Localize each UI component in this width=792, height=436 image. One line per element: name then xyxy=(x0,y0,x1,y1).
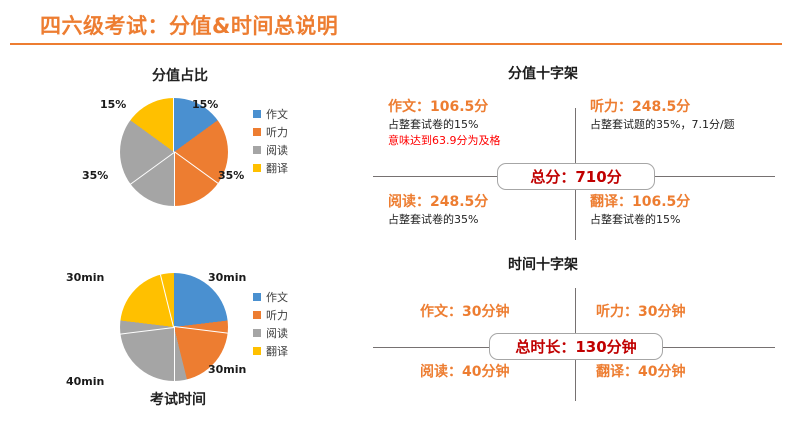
pie-separator xyxy=(174,327,175,381)
pie-separator xyxy=(174,326,228,334)
legend-item-fanyi: 翻译 xyxy=(253,342,288,360)
legend-swatch-gray-icon xyxy=(253,146,261,154)
time-pie-label-tingli: 30min xyxy=(208,363,246,376)
legend-label: 阅读 xyxy=(266,325,288,341)
legend-label: 翻译 xyxy=(266,343,288,359)
quadrant-detail: 占整套试卷的35% xyxy=(388,212,488,228)
score-pie-label-zuowen: 15% xyxy=(192,98,218,111)
pie-separator xyxy=(174,152,175,206)
time-pie-label-zuowen: 30min xyxy=(208,271,246,284)
quadrant-heading: 听力：30分钟 xyxy=(596,302,685,322)
legend-label: 翻译 xyxy=(266,160,288,176)
quadrant-heading: 作文：30分钟 xyxy=(420,302,509,322)
quadrant-detail: 占整套试卷的15% xyxy=(590,212,690,228)
total-time-badge: 总时长：130分钟 xyxy=(489,333,663,360)
time-pie-title: 考试时间 xyxy=(128,389,228,409)
time-quadrant-listening: 听力：30分钟 xyxy=(596,302,685,322)
time-cross-title: 时间十字架 xyxy=(508,254,578,274)
quadrant-detail-alert: 意味达到63.9分为及格 xyxy=(388,133,501,149)
score-quadrant-listening: 听力：248.5分 占整套试题的35%，7.1分/题 xyxy=(590,97,735,133)
score-quadrant-translation: 翻译：106.5分 占整套试卷的15% xyxy=(590,192,690,228)
legend-item-tingli: 听力 xyxy=(253,123,288,141)
legend-item-zuowen: 作文 xyxy=(253,105,288,123)
score-pie-legend: 作文 听力 阅读 翻译 xyxy=(253,105,288,177)
pie-separator xyxy=(160,275,174,328)
legend-swatch-blue-icon xyxy=(253,110,261,118)
score-pie-chart: 分值占比 15% 35% 35% 15% 作文 听力 阅读 翻译 xyxy=(70,60,320,240)
legend-item-tingli: 听力 xyxy=(253,306,288,324)
quadrant-heading: 翻译：106.5分 xyxy=(590,192,690,212)
legend-item-zuowen: 作文 xyxy=(253,288,288,306)
quadrant-heading: 听力：248.5分 xyxy=(590,97,735,117)
legend-label: 作文 xyxy=(266,106,288,122)
score-pie-title: 分值占比 xyxy=(130,65,230,85)
score-pie-graphic xyxy=(120,98,228,206)
legend-swatch-gray-icon xyxy=(253,329,261,337)
time-pie-legend: 作文 听力 阅读 翻译 xyxy=(253,288,288,360)
total-score-badge: 总分：710分 xyxy=(497,163,655,190)
legend-swatch-yellow-icon xyxy=(253,347,261,355)
legend-label: 听力 xyxy=(266,307,288,323)
pie-separator xyxy=(130,152,174,185)
legend-swatch-orange-icon xyxy=(253,128,261,136)
quadrant-heading: 作文：106.5分 xyxy=(388,97,501,117)
quadrant-heading: 翻译：40分钟 xyxy=(596,362,685,382)
header-divider xyxy=(10,43,782,45)
legend-item-yuedu: 阅读 xyxy=(253,324,288,342)
score-cross-title: 分值十字架 xyxy=(508,63,578,83)
time-pie-chart: 30min 30min 40min 30min 考试时间 作文 听力 阅读 翻译 xyxy=(70,255,320,430)
quadrant-detail: 占整套试卷的15% xyxy=(388,117,501,133)
quadrant-detail: 占整套试题的35%，7.1分/题 xyxy=(590,117,735,133)
legend-swatch-orange-icon xyxy=(253,311,261,319)
quadrant-heading: 阅读：248.5分 xyxy=(388,192,488,212)
legend-swatch-blue-icon xyxy=(253,293,261,301)
pie-separator xyxy=(120,327,174,335)
pie-separator xyxy=(173,98,174,152)
score-quadrant-writing: 作文：106.5分 占整套试卷的15% 意味达到63.9分为及格 xyxy=(388,97,501,149)
time-quadrant-writing: 作文：30分钟 xyxy=(420,302,509,322)
score-pie-label-tingli: 35% xyxy=(218,169,244,182)
time-quadrant-reading: 阅读：40分钟 xyxy=(420,362,509,382)
time-quadrant-translation: 翻译：40分钟 xyxy=(596,362,685,382)
score-quadrant-reading: 阅读：248.5分 占整套试卷的35% xyxy=(388,192,488,228)
legend-item-fanyi: 翻译 xyxy=(253,159,288,177)
time-pie-label-yuedu: 40min xyxy=(66,375,104,388)
score-pie-label-fanyi: 15% xyxy=(100,98,126,111)
time-pie-label-fanyi: 30min xyxy=(66,271,104,284)
legend-label: 作文 xyxy=(266,289,288,305)
legend-swatch-yellow-icon xyxy=(253,164,261,172)
legend-label: 阅读 xyxy=(266,142,288,158)
legend-label: 听力 xyxy=(266,124,288,140)
legend-item-yuedu: 阅读 xyxy=(253,141,288,159)
page-title: 四六级考试：分值&时间总说明 xyxy=(40,10,338,40)
score-pie-slices xyxy=(120,98,228,206)
score-pie-label-yuedu: 35% xyxy=(82,169,108,182)
quadrant-heading: 阅读：40分钟 xyxy=(420,362,509,382)
pie-separator xyxy=(174,151,218,184)
